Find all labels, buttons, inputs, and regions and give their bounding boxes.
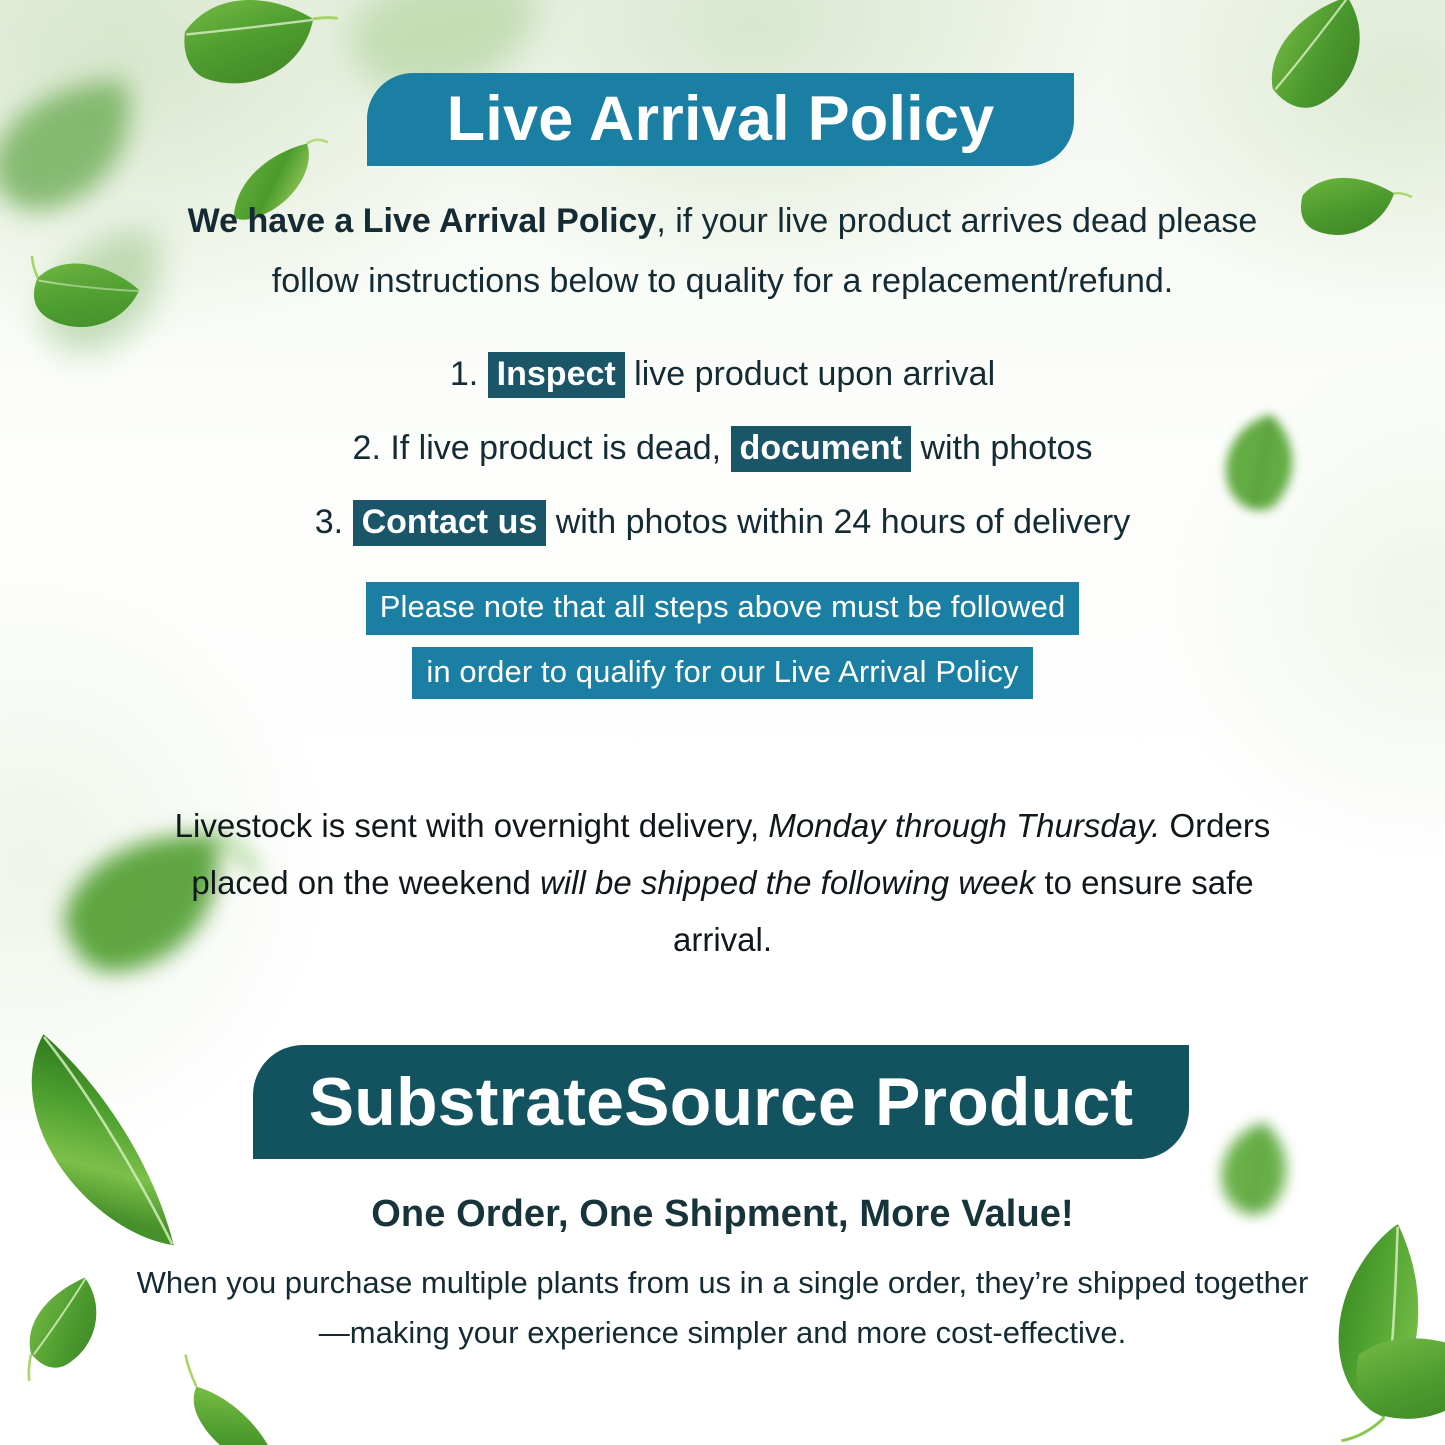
step-2-highlight-document[interactable]: document: [731, 426, 911, 472]
shipping-line2-italic: will be shipped the following week: [540, 864, 1035, 901]
shipping-schedule-paragraph: Livestock is sent with overnight deliver…: [150, 798, 1295, 968]
policy-page: Live Arrival Policy We have a Live Arriv…: [0, 0, 1445, 1445]
step-1-post-text: live product upon arrival: [634, 355, 995, 393]
step-1-number: 1.: [450, 355, 478, 393]
live-arrival-policy-banner: Live Arrival Policy: [367, 73, 1074, 166]
policy-note-row-1: Please note that all steps above must be…: [150, 582, 1295, 635]
value-proposition-body: When you purchase multiple plants from u…: [130, 1258, 1315, 1358]
policy-step-1: 1. Inspect live product upon arrival: [150, 352, 1295, 398]
policy-note-line-1: Please note that all steps above must be…: [366, 582, 1080, 635]
step-2-post-text: with photos: [920, 429, 1092, 467]
step-2-pre-text: If live product is dead,: [390, 429, 721, 467]
substratesource-product-banner: SubstrateSource Product: [253, 1045, 1189, 1159]
value-proposition-heading: One Order, One Shipment, More Value!: [150, 1192, 1295, 1238]
step-1-highlight-inspect[interactable]: Inspect: [488, 352, 625, 398]
substratesource-product-title: SubstrateSource Product: [309, 1068, 1134, 1136]
step-2-number: 2.: [353, 429, 381, 467]
step-3-highlight-contact-us[interactable]: Contact us: [353, 500, 547, 546]
policy-note-block: Please note that all steps above must be…: [150, 582, 1295, 699]
step-3-number: 3.: [315, 503, 343, 541]
policy-step-2: 2. If live product is dead, document wit…: [150, 426, 1295, 472]
policy-note-line-2: in order to qualify for our Live Arrival…: [412, 647, 1032, 700]
policy-note-row-2: in order to qualify for our Live Arrival…: [150, 647, 1295, 700]
intro-lead-text: We have a Live Arrival Policy: [188, 202, 657, 240]
step-3-post-text: with photos within 24 hours of delivery: [556, 503, 1131, 541]
policy-step-3: 3. Contact us with photos within 24 hour…: [150, 500, 1295, 546]
shipping-line1-italic: Monday through Thursday.: [768, 807, 1160, 844]
shipping-line1-plain: Livestock is sent with overnight deliver…: [175, 807, 769, 844]
policy-steps-list: 1. Inspect live product upon arrival 2. …: [150, 352, 1295, 546]
live-arrival-policy-title: Live Arrival Policy: [447, 88, 995, 151]
intro-paragraph: We have a Live Arrival Policy, if your l…: [150, 192, 1295, 311]
